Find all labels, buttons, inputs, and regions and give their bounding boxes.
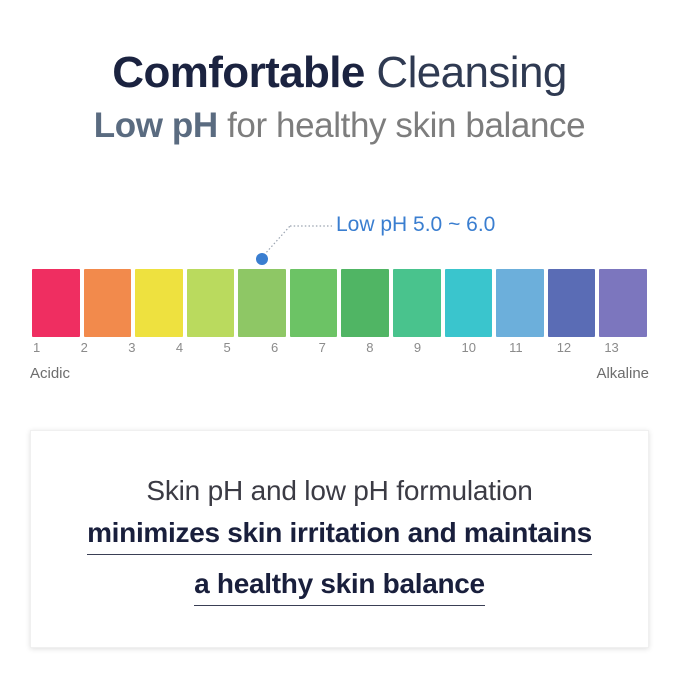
ph-tick-label: 13	[603, 339, 647, 359]
ph-tick-label: 8	[365, 339, 409, 359]
ph-tick-label: 2	[80, 339, 124, 359]
ph-tick-label: 11	[508, 339, 552, 359]
ph-tick-label: 9	[413, 339, 457, 359]
page-title-rest: Cleansing	[365, 48, 567, 97]
ph-swatch	[135, 269, 183, 337]
statement-line-3: a healthy skin balance	[194, 564, 485, 606]
ph-scale-end-labels: Acidic Alkaline	[30, 363, 649, 385]
ph-swatch	[187, 269, 235, 337]
ph-swatch	[445, 269, 493, 337]
ph-label-alkaline: Alkaline	[596, 363, 649, 385]
statement-line-2: minimizes skin irritation and maintains	[87, 513, 592, 555]
ph-scale-tick-labels: 1 2 3 4 5 6 7 8 9 10 11 12 13	[32, 339, 647, 359]
ph-tick-label: 7	[318, 339, 362, 359]
ph-swatch	[393, 269, 441, 337]
ph-swatch	[32, 269, 80, 337]
ph-swatch	[548, 269, 596, 337]
ph-scale-swatches	[32, 269, 647, 337]
ph-swatch	[84, 269, 132, 337]
ph-callout: Low pH 5.0 ~ 6.0	[0, 200, 679, 270]
ph-tick-label: 4	[175, 339, 219, 359]
page-subtitle: Low pH for healthy skin balance	[0, 104, 679, 148]
ph-tick-label: 6	[270, 339, 314, 359]
callout-label: Low pH 5.0 ~ 6.0	[336, 212, 495, 238]
statement-card: Skin pH and low pH formulation minimizes…	[30, 430, 649, 648]
ph-swatch	[496, 269, 544, 337]
ph-tick-label: 12	[556, 339, 600, 359]
ph-tick-label: 3	[127, 339, 171, 359]
ph-label-acidic: Acidic	[30, 363, 70, 385]
ph-tick-label: 10	[460, 339, 504, 359]
statement-line-1: Skin pH and low pH formulation	[146, 472, 532, 510]
ph-swatch	[341, 269, 389, 337]
ph-swatch	[599, 269, 647, 337]
page-subtitle-rest: for healthy skin balance	[218, 106, 585, 145]
ph-swatch	[238, 269, 286, 337]
ph-tick-label: 5	[222, 339, 266, 359]
page-title: Comfortable Cleansing	[0, 46, 679, 100]
ph-tick-label: 1	[32, 339, 76, 359]
page-subtitle-emphasis: Low pH	[94, 106, 218, 145]
headline-block: Comfortable Cleansing Low pH for healthy…	[0, 46, 679, 148]
page-title-emphasis: Comfortable	[112, 48, 365, 97]
ph-swatch	[290, 269, 338, 337]
